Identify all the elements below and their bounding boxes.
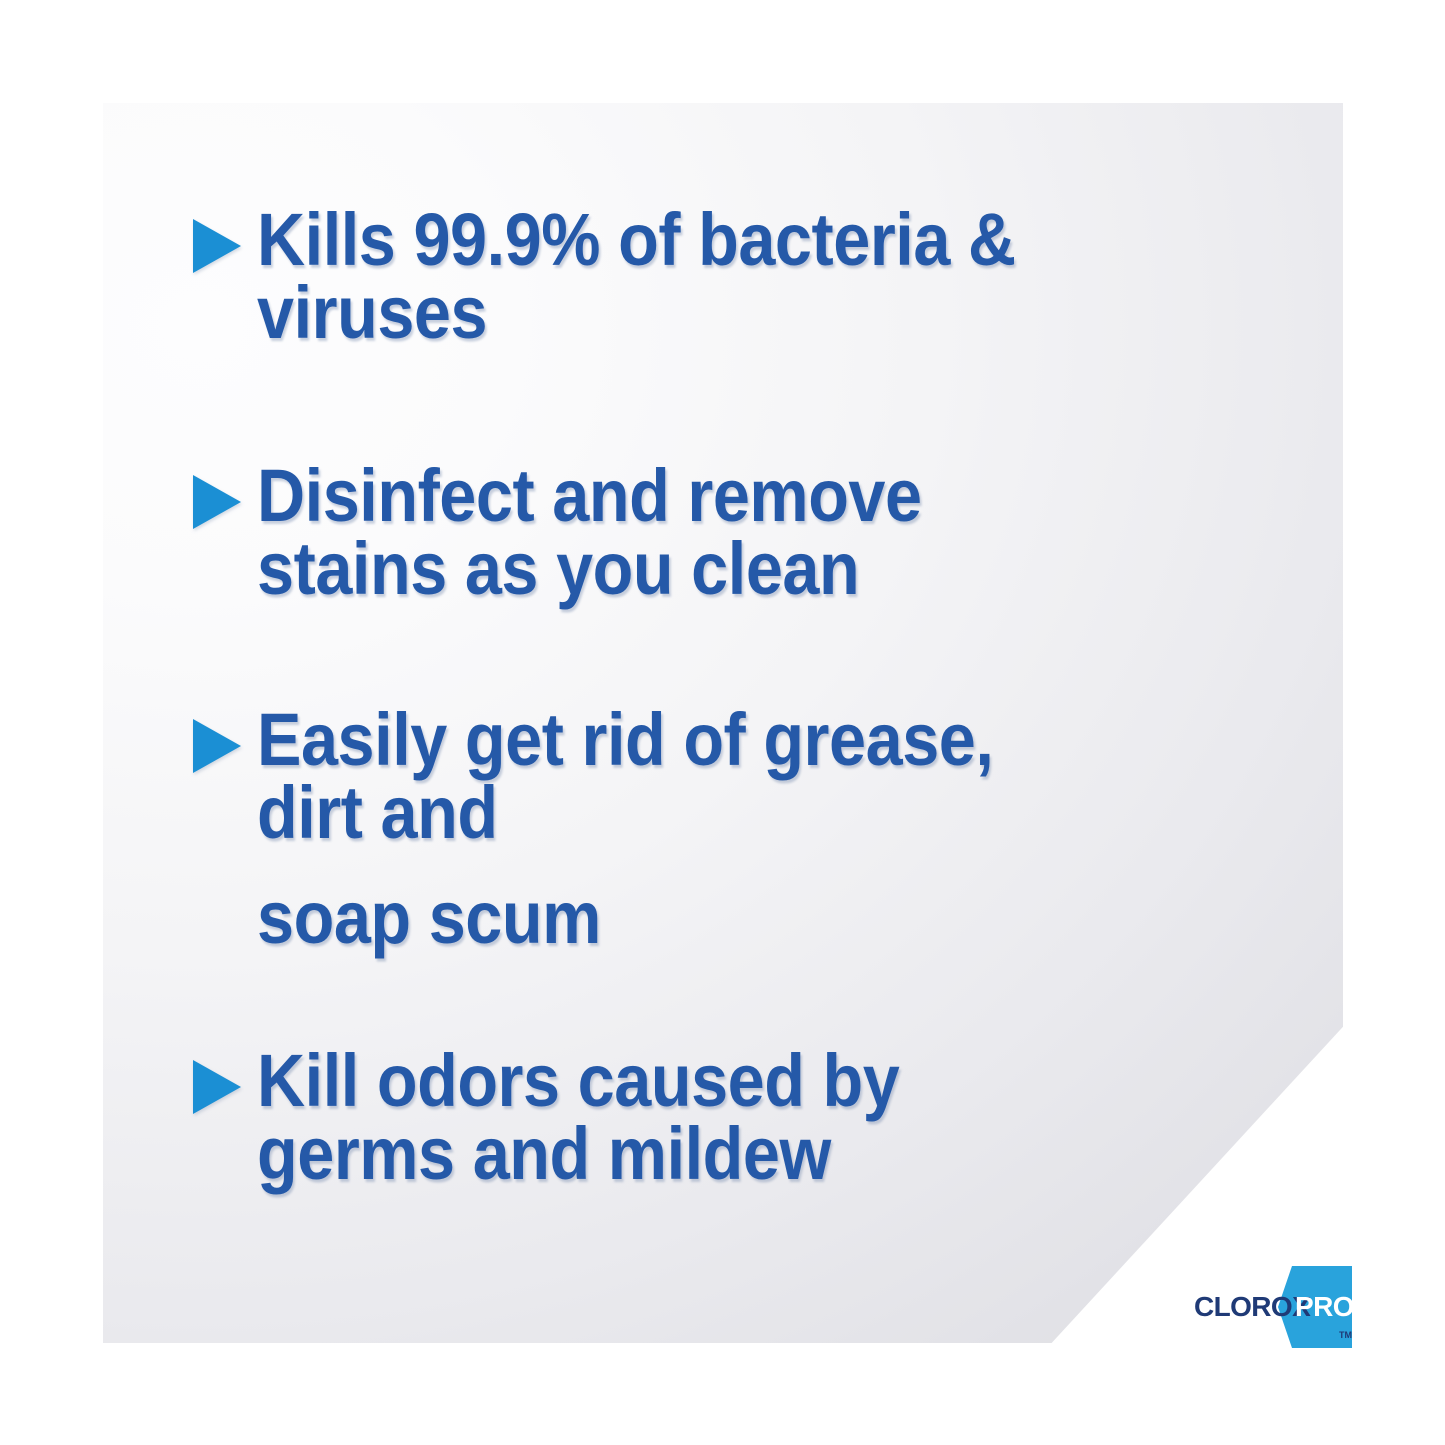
- list-item-label: Disinfect and removestains as you clean: [257, 459, 922, 606]
- list-item-line: Kill odors caused by: [257, 1044, 899, 1117]
- list-item-label: Kill odors caused bygerms and mildew: [257, 1044, 899, 1191]
- image-canvas: Kills 99.9% of bacteria &viruses Disinfe…: [0, 0, 1445, 1445]
- list-item-line: stains as you clean: [257, 532, 922, 605]
- triangle-right-icon: [191, 473, 243, 531]
- cloroxpro-logo: CLOROX PRO TM: [1192, 1258, 1360, 1356]
- benefits-list: Kills 99.9% of bacteria &viruses Disinfe…: [103, 103, 1343, 1343]
- list-item: Disinfect and removestains as you clean: [191, 459, 995, 606]
- list-item-line: Easily get rid of grease,: [257, 703, 993, 776]
- list-item: Kills 99.9% of bacteria &viruses: [191, 203, 1100, 350]
- list-item: Kill odors caused bygerms and mildew: [191, 1044, 971, 1191]
- triangle-right-icon: [191, 217, 243, 275]
- list-item-label: Kills 99.9% of bacteria &viruses: [257, 203, 1016, 350]
- logo-clorox-text: CLOROX: [1194, 1291, 1311, 1322]
- list-item-line: viruses: [257, 276, 1016, 349]
- list-item-label: Easily get rid of grease,dirt andsoap sc…: [257, 703, 993, 954]
- list-item-line: dirt and: [257, 776, 993, 849]
- list-item-line: soap scum: [257, 881, 993, 954]
- list-item-line: germs and mildew: [257, 1117, 899, 1190]
- list-item: Easily get rid of grease,dirt andsoap sc…: [191, 703, 1075, 954]
- triangle-right-icon: [191, 717, 243, 775]
- logo-trademark-text: TM: [1339, 1330, 1352, 1340]
- list-item-line: Kills 99.9% of bacteria &: [257, 203, 1016, 276]
- logo-pro-text: PRO: [1295, 1291, 1354, 1322]
- list-item-line: Disinfect and remove: [257, 459, 922, 532]
- triangle-right-icon: [191, 1058, 243, 1116]
